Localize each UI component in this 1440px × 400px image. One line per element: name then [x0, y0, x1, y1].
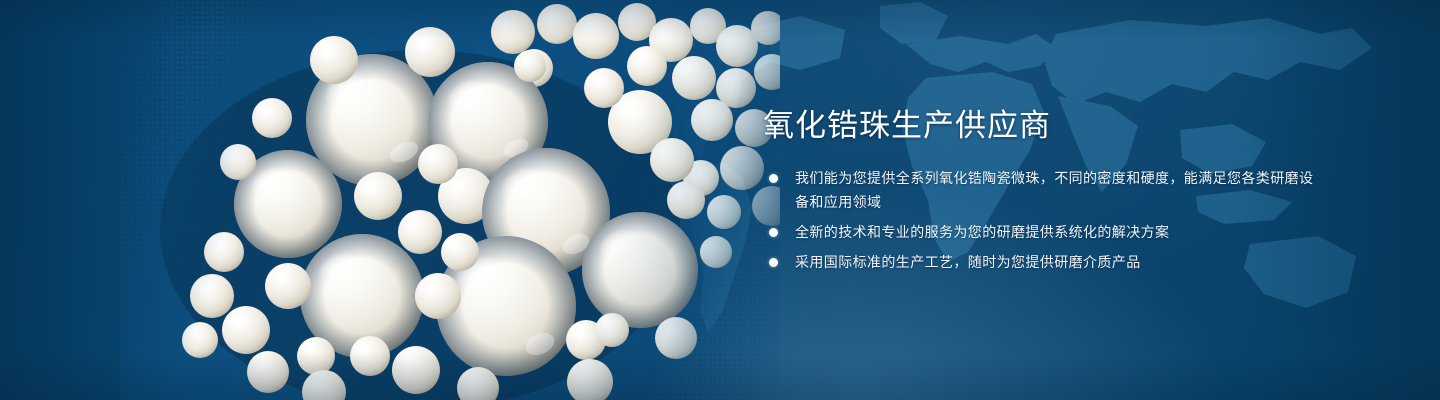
bullet-dot-icon: [769, 174, 778, 183]
page-title: 氧化锆珠生产供应商: [763, 106, 1323, 146]
list-item: 全新的技术和专业的服务为您的研磨提供系统化的解决方案: [763, 220, 1323, 244]
list-item: 我们能为您提供全系列氧化锆陶瓷微珠，不同的密度和硬度，能满足您各类研磨设备和应用…: [763, 166, 1323, 214]
feature-list: 我们能为您提供全系列氧化锆陶瓷微珠，不同的密度和硬度，能满足您各类研磨设备和应用…: [763, 166, 1323, 274]
list-item: 采用国际标准的生产工艺，随时为您提供研磨介质产品: [763, 250, 1323, 274]
banner-copy: 氧化锆珠生产供应商 我们能为您提供全系列氧化锆陶瓷微珠，不同的密度和硬度，能满足…: [763, 106, 1323, 274]
bullet-dot-icon: [769, 228, 778, 237]
list-item-label: 采用国际标准的生产工艺，随时为您提供研磨介质产品: [795, 250, 1323, 274]
list-item-label: 全新的技术和专业的服务为您的研磨提供系统化的解决方案: [795, 220, 1323, 244]
zirconia-beads-image: [120, 0, 780, 400]
bullet-dot-icon: [769, 258, 778, 267]
hero-banner: 氧化锆珠生产供应商 我们能为您提供全系列氧化锆陶瓷微珠，不同的密度和硬度，能满足…: [0, 0, 1440, 400]
list-item-label: 我们能为您提供全系列氧化锆陶瓷微珠，不同的密度和硬度，能满足您各类研磨设备和应用…: [795, 166, 1323, 214]
